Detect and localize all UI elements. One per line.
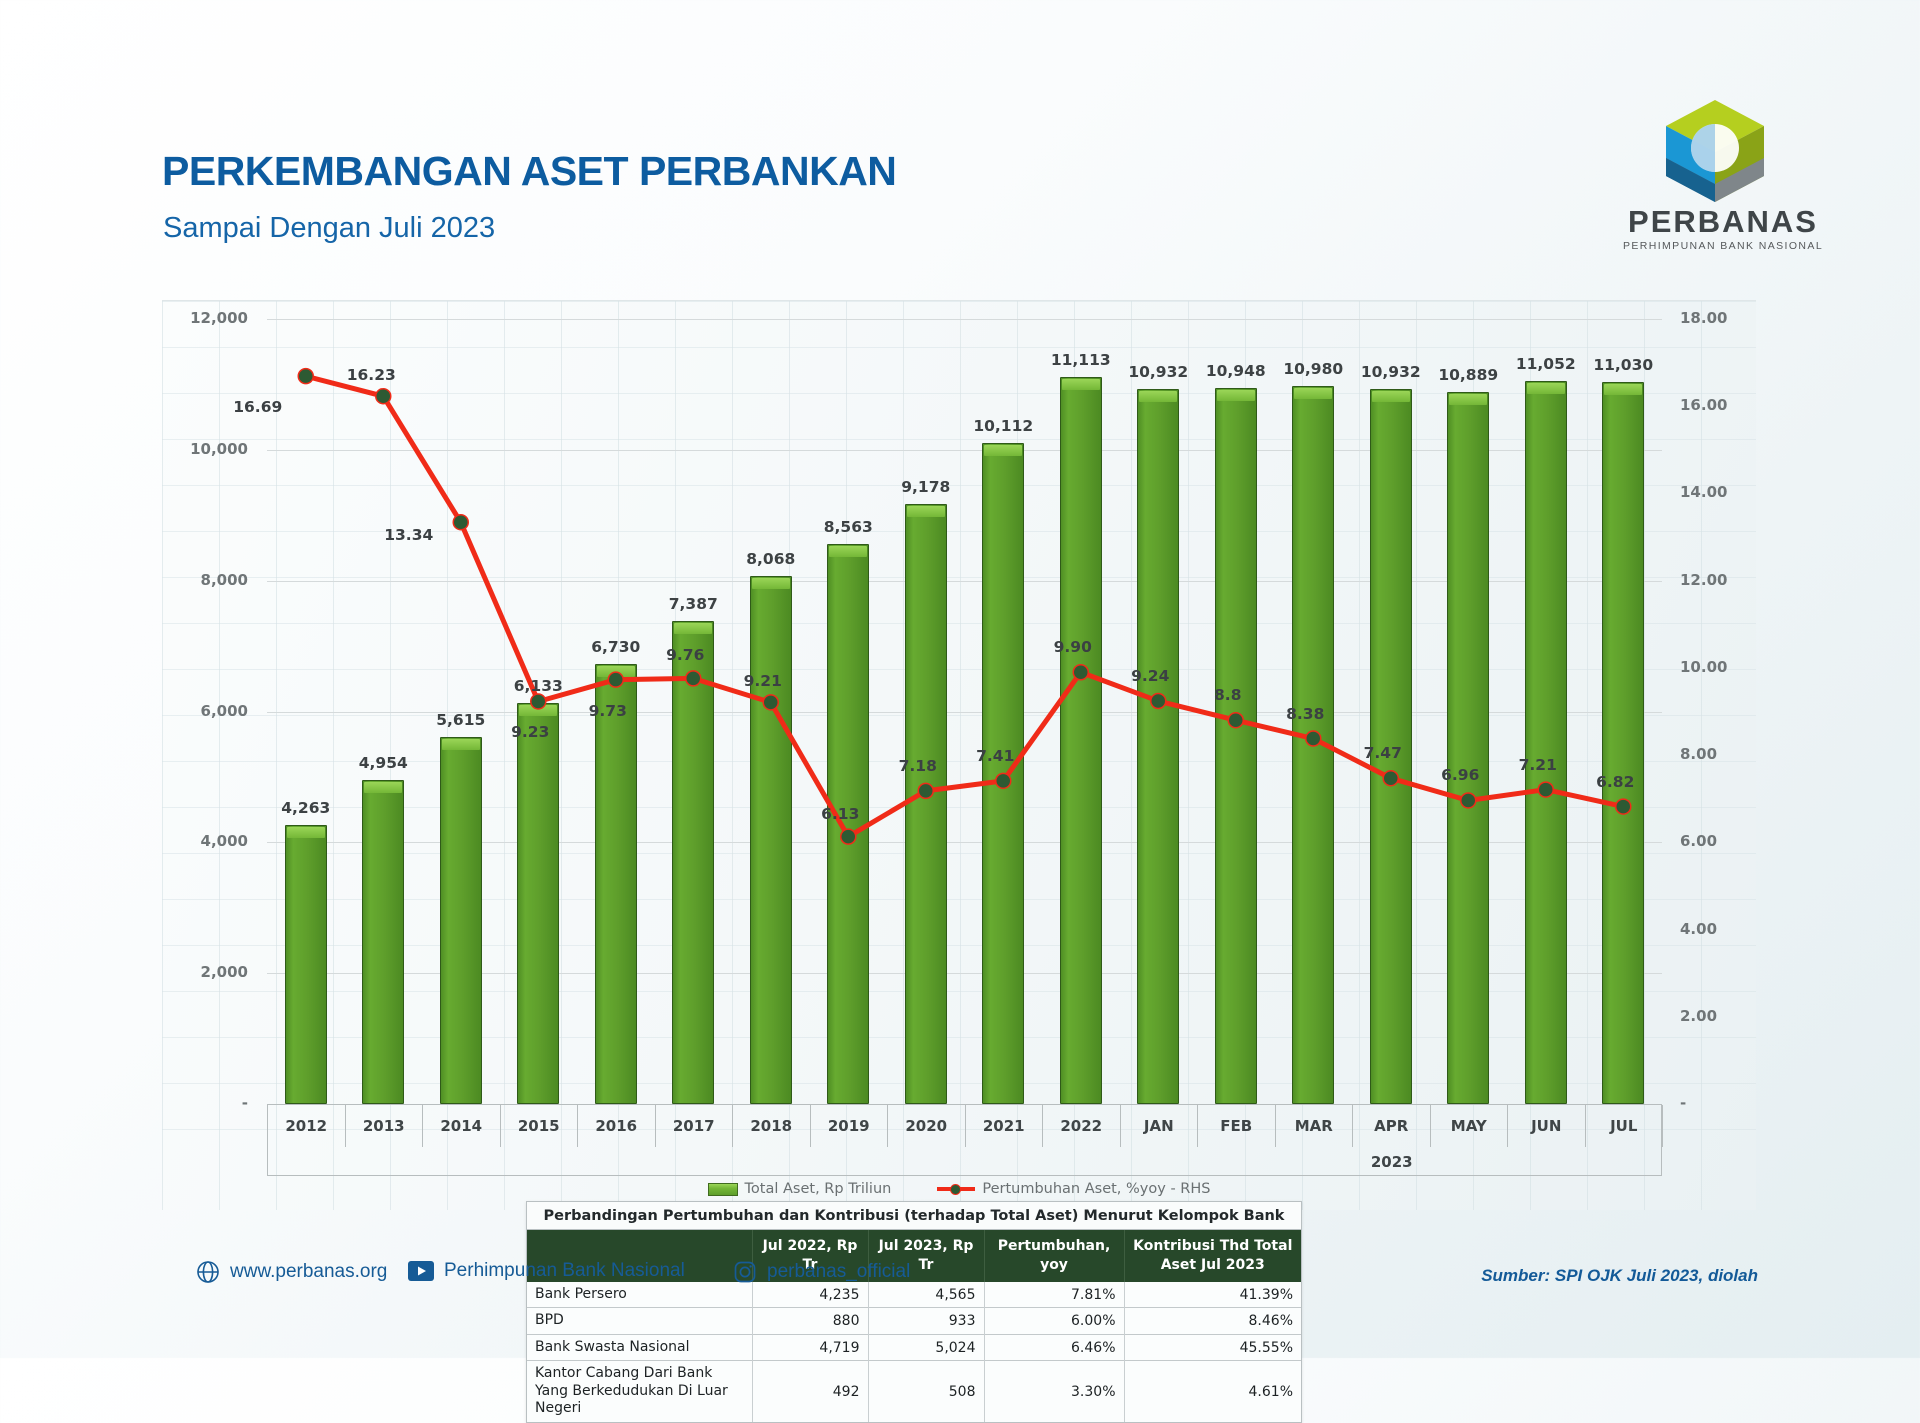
perbanas-logo: PERBANAS PERHIMPUNAN BANK NASIONAL (1608, 98, 1838, 238)
line-value-label: 9.73 (568, 702, 648, 720)
chart-panel: 4,2634,9545,6156,1336,7307,3878,0688,563… (162, 300, 1756, 1210)
legend-item-pertumbuhan: Pertumbuhan Aset, %yoy - RHS (937, 1181, 1210, 1197)
line-marker (1383, 771, 1398, 786)
right-axis-tick: 2.00 (1680, 1007, 1770, 1025)
chart-legend: Total Aset, Rp Triliun Pertumbuhan Aset,… (162, 1181, 1756, 1197)
right-axis-tick: 6.00 (1680, 832, 1770, 850)
line-value-label: 8.8 (1188, 686, 1268, 704)
background-gridline (219, 301, 220, 1210)
footer-website[interactable]: www.perbanas.org (196, 1260, 387, 1284)
line-value-label: 16.23 (331, 366, 411, 384)
category-label-2022: 2022 (1043, 1105, 1121, 1147)
category-label-apr: APR (1353, 1105, 1431, 1147)
source-note: Sumber: SPI OJK Juli 2023, diolah (1481, 1266, 1758, 1286)
bar-value-label: 9,178 (876, 478, 976, 496)
right-axis-tick: 14.00 (1680, 483, 1770, 501)
globe-icon (196, 1260, 220, 1284)
table-row: Kantor Cabang Dari Bank Yang Berkeduduka… (527, 1361, 1301, 1422)
right-axis-tick: 18.00 (1680, 309, 1770, 327)
left-axis-tick: 2,000 (158, 963, 248, 981)
line-value-label: 6.13 (800, 805, 880, 823)
table-cell-4: 45.55% (1124, 1334, 1301, 1361)
table-cell-2: 5,024 (868, 1334, 984, 1361)
line-value-label: 7.18 (878, 757, 958, 775)
category-group-2023: 2023 (1121, 1147, 1664, 1177)
table-cell-3: 6.46% (984, 1334, 1124, 1361)
line-marker (531, 694, 546, 709)
line-marker (686, 671, 701, 686)
line-marker (1306, 731, 1321, 746)
line-value-label: 7.47 (1343, 744, 1423, 762)
category-label-2014: 2014 (423, 1105, 501, 1147)
line-value-label: 7.41 (955, 747, 1035, 765)
bar-value-label: 4,954 (333, 754, 433, 772)
line-value-label: 7.21 (1498, 756, 1578, 774)
youtube-icon (408, 1261, 434, 1281)
bar-value-label: 11,030 (1573, 356, 1673, 374)
table-cell-4: 8.46% (1124, 1308, 1301, 1335)
category-label-2013: 2013 (346, 1105, 424, 1147)
logo-wordmark: PERBANAS (1608, 204, 1838, 240)
table-cell-0: BPD (527, 1308, 752, 1335)
line-marker (298, 369, 313, 384)
table-row: BPD8809336.00%8.46% (527, 1308, 1301, 1335)
right-axis-tick: 16.00 (1680, 396, 1770, 414)
instagram-icon (733, 1260, 757, 1284)
category-label-2015: 2015 (501, 1105, 579, 1147)
left-axis-tick: 10,000 (158, 440, 248, 458)
right-axis-tick: - (1680, 1094, 1770, 1112)
category-label-jan: JAN (1121, 1105, 1199, 1147)
footer-youtube-label: Perhimpunan Bank Nasional (444, 1260, 685, 1282)
bar-value-label: 10,112 (953, 417, 1053, 435)
line-marker (763, 695, 778, 710)
bar-value-label: 8,563 (798, 518, 898, 536)
line-value-label: 8.38 (1265, 705, 1345, 723)
category-label-jun: JUN (1508, 1105, 1586, 1147)
category-label-2019: 2019 (811, 1105, 889, 1147)
line-value-label: 9.24 (1110, 667, 1190, 685)
line-marker (1538, 782, 1553, 797)
line-marker (841, 829, 856, 844)
line-marker (1151, 694, 1166, 709)
page-title: PERKEMBANGAN ASET PERBANKAN (162, 148, 896, 195)
bar-value-label: 8,068 (721, 550, 821, 568)
background-gridline (162, 301, 1756, 302)
footer-website-label: www.perbanas.org (230, 1261, 387, 1283)
footer-instagram[interactable]: perbanas_official (733, 1260, 910, 1284)
category-label-2016: 2016 (578, 1105, 656, 1147)
table-cell-0: Kantor Cabang Dari Bank Yang Berkeduduka… (527, 1361, 752, 1422)
line-value-label: 13.34 (369, 526, 449, 544)
table-cell-4: 4.61% (1124, 1361, 1301, 1422)
right-axis-tick: 4.00 (1680, 920, 1770, 938)
legend-label-pertumbuhan: Pertumbuhan Aset, %yoy - RHS (982, 1181, 1210, 1197)
line-value-label: 9.76 (645, 646, 725, 664)
line-value-label: 9.23 (490, 723, 570, 741)
line-marker (918, 783, 933, 798)
plot-area: 4,2634,9545,6156,1336,7307,3878,0688,563… (267, 319, 1662, 1104)
line-swatch-icon (937, 1183, 975, 1195)
line-marker (453, 515, 468, 530)
right-axis-tick: 10.00 (1680, 658, 1770, 676)
line-marker (376, 389, 391, 404)
table-row: Bank Swasta Nasional4,7195,0246.46%45.55… (527, 1334, 1301, 1361)
line-marker (1616, 799, 1631, 814)
line-marker (1228, 713, 1243, 728)
category-label-may: MAY (1431, 1105, 1509, 1147)
category-label-2021: 2021 (966, 1105, 1044, 1147)
table-title: Perbandingan Pertumbuhan dan Kontribusi … (527, 1202, 1301, 1230)
table-cell-2: 508 (868, 1361, 984, 1422)
category-label-2017: 2017 (656, 1105, 734, 1147)
right-axis-tick: 8.00 (1680, 745, 1770, 763)
bar-swatch-icon (708, 1183, 738, 1196)
logo-tagline: PERHIMPUNAN BANK NASIONAL (1608, 240, 1838, 252)
left-axis-tick: 4,000 (158, 832, 248, 850)
line-value-label: 9.90 (1033, 638, 1113, 656)
table-cell-0: Bank Swasta Nasional (527, 1334, 752, 1361)
footer-youtube[interactable]: Perhimpunan Bank Nasional (408, 1260, 685, 1282)
bar-value-label: 6,133 (488, 677, 588, 695)
left-axis-tick: 8,000 (158, 571, 248, 589)
category-label-mar: MAR (1276, 1105, 1354, 1147)
table-cell-1: 880 (752, 1308, 868, 1335)
category-label-2020: 2020 (888, 1105, 966, 1147)
category-label-feb: FEB (1198, 1105, 1276, 1147)
table-cell-3: 6.00% (984, 1308, 1124, 1335)
left-axis-tick: - (158, 1094, 248, 1112)
category-label-jul: JUL (1586, 1105, 1664, 1147)
bar-value-label: 7,387 (643, 595, 743, 613)
page-subtitle: Sampai Dengan Juli 2023 (163, 212, 495, 245)
category-label-2012: 2012 (268, 1105, 346, 1147)
line-marker (1461, 793, 1476, 808)
line-value-label: 6.96 (1420, 766, 1500, 784)
legend-item-total-aset: Total Aset, Rp Triliun (708, 1181, 892, 1197)
right-axis-tick: 12.00 (1680, 571, 1770, 589)
perbanas-cube-logo-icon (1660, 98, 1770, 206)
line-value-label: 16.69 (218, 398, 298, 416)
table-cell-3: 3.30% (984, 1361, 1124, 1422)
line-marker (1073, 665, 1088, 680)
line-marker (996, 773, 1011, 788)
category-axis: 2023 20122013201420152016201720182019202… (267, 1104, 1662, 1176)
table-cell-2: 933 (868, 1308, 984, 1335)
category-label-2018: 2018 (733, 1105, 811, 1147)
background-gridline (162, 301, 163, 1210)
comparison-table: Perbandingan Pertumbuhan dan Kontribusi … (526, 1201, 1302, 1423)
legend-label-total-aset: Total Aset, Rp Triliun (745, 1181, 892, 1197)
table-cell-1: 4,719 (752, 1334, 868, 1361)
left-axis-tick: 6,000 (158, 702, 248, 720)
left-axis-tick: 12,000 (158, 309, 248, 327)
table-cell-1: 492 (752, 1361, 868, 1422)
line-marker (608, 672, 623, 687)
line-value-label: 9.21 (723, 672, 803, 690)
footer-instagram-label: perbanas_official (767, 1261, 910, 1283)
bar-value-label: 4,263 (256, 799, 356, 817)
line-value-label: 6.82 (1575, 773, 1655, 791)
